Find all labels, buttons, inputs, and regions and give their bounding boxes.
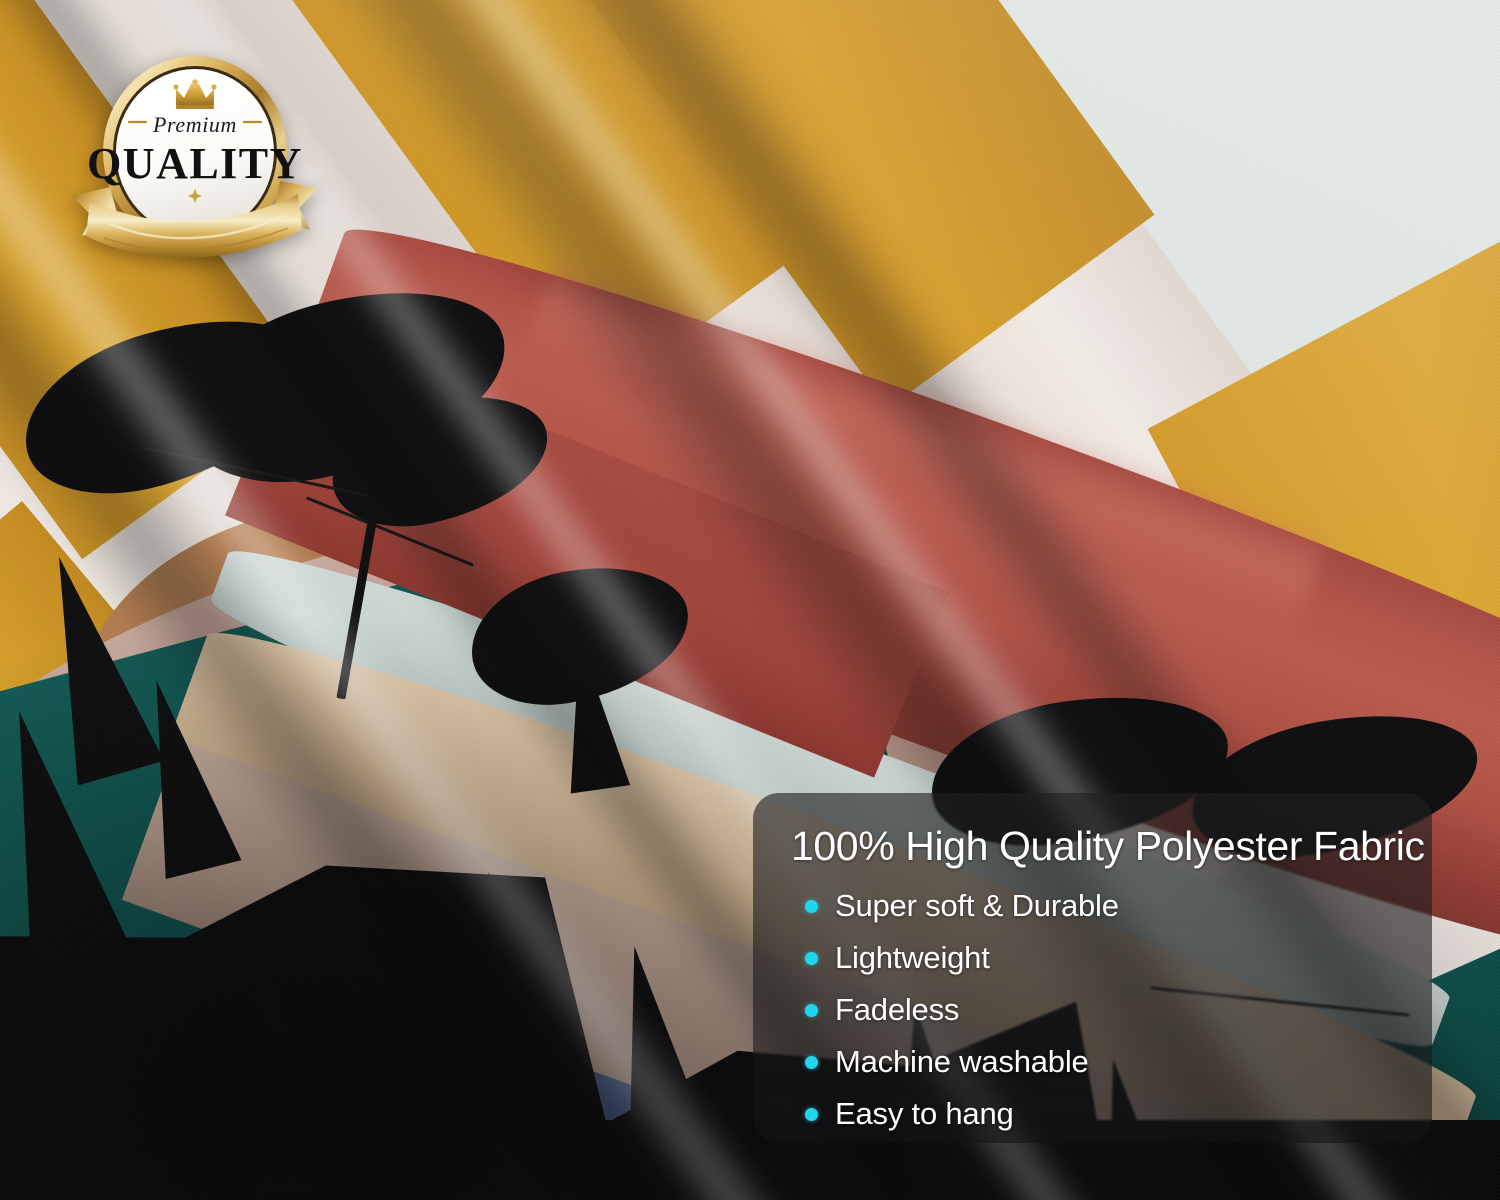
feature-list: Super soft & Durable Lightweight Fadeles…	[791, 882, 1406, 1138]
list-item: Fadeless	[791, 986, 1406, 1034]
list-item: Machine washable	[791, 1038, 1406, 1086]
bullet-icon	[805, 1056, 818, 1069]
bullet-icon	[805, 952, 818, 965]
fabric-info-panel: 100% High Quality Polyester Fabric Super…	[753, 793, 1432, 1143]
list-item: Super soft & Durable	[791, 882, 1406, 930]
bullet-icon	[805, 1108, 818, 1121]
feature-label: Easy to hang	[835, 1096, 1014, 1132]
bullet-icon	[805, 1004, 818, 1017]
feature-label: Fadeless	[835, 992, 959, 1028]
premium-quality-badge: Premium QUALITY	[66, 48, 324, 270]
product-feature-image: Premium QUALITY 100% High Quality Polyes…	[0, 0, 1500, 1200]
bullet-icon	[805, 900, 818, 913]
feature-label: Super soft & Durable	[835, 888, 1119, 924]
feature-label: Lightweight	[835, 940, 990, 976]
list-item: Lightweight	[791, 934, 1406, 982]
feature-label: Machine washable	[835, 1044, 1089, 1080]
info-panel-title: 100% High Quality Polyester Fabric	[791, 825, 1406, 868]
list-item: Easy to hang	[791, 1090, 1406, 1138]
badge-graphic	[66, 48, 324, 270]
